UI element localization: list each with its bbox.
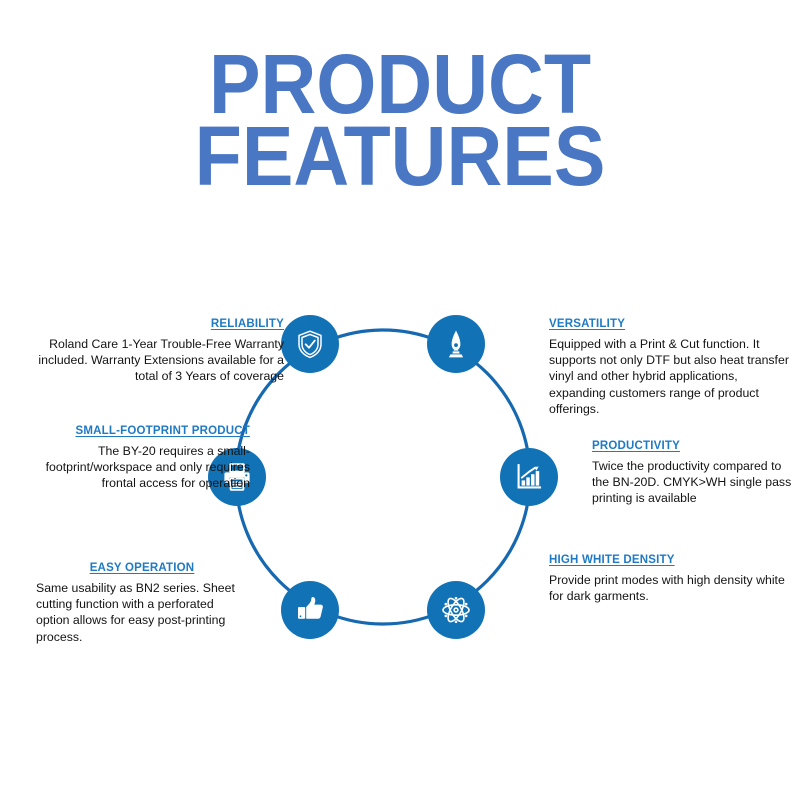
feature-high-white-density: HIGH WHITE DENSITY Provide print modes w… — [549, 554, 795, 604]
feature-productivity-body: Twice the productivity compared to the B… — [592, 458, 800, 507]
feature-versatility-heading: VERSATILITY — [549, 318, 795, 330]
feature-versatility: VERSATILITY Equipped with a Print & Cut … — [549, 318, 795, 417]
pen-nib-icon — [440, 328, 472, 360]
feature-easy-operation: EASY OPERATION Same usability as BN2 ser… — [36, 562, 248, 645]
feature-small-footprint-heading: SMALL-FOOTPRINT PRODUCT — [24, 425, 250, 437]
feature-high-white-density-heading: HIGH WHITE DENSITY — [549, 554, 795, 566]
feature-reliability: RELIABILITY Roland Care 1-Year Trouble-F… — [24, 318, 284, 385]
shield-check-icon — [294, 328, 326, 360]
node-high-white-density[interactable] — [427, 581, 485, 639]
node-easy-operation[interactable] — [281, 581, 339, 639]
feature-reliability-heading: RELIABILITY — [24, 318, 284, 330]
feature-productivity: PRODUCTIVITY Twice the productivity comp… — [592, 440, 800, 507]
node-productivity[interactable] — [500, 448, 558, 506]
thumbs-up-icon — [294, 594, 326, 626]
atom-icon — [440, 594, 472, 626]
node-reliability[interactable] — [281, 315, 339, 373]
page-title: PRODUCT FEATURES — [0, 48, 800, 192]
page-title-line-2: FEATURES — [32, 120, 768, 192]
feature-reliability-body: Roland Care 1-Year Trouble-Free Warranty… — [24, 336, 284, 385]
feature-high-white-density-body: Provide print modes with high density wh… — [549, 572, 795, 604]
feature-small-footprint-body: The BY-20 requires a small-footprint/wor… — [24, 443, 250, 492]
feature-small-footprint: SMALL-FOOTPRINT PRODUCT The BY-20 requir… — [24, 425, 250, 492]
feature-easy-operation-heading: EASY OPERATION — [36, 562, 248, 574]
node-versatility[interactable] — [427, 315, 485, 373]
bar-chart-growth-icon — [513, 461, 545, 493]
feature-versatility-body: Equipped with a Print & Cut function. It… — [549, 336, 795, 417]
feature-easy-operation-body: Same usability as BN2 series. Sheet cutt… — [36, 580, 248, 645]
feature-productivity-heading: PRODUCTIVITY — [592, 440, 800, 452]
infographic-page: PRODUCT FEATURES — [0, 0, 800, 800]
